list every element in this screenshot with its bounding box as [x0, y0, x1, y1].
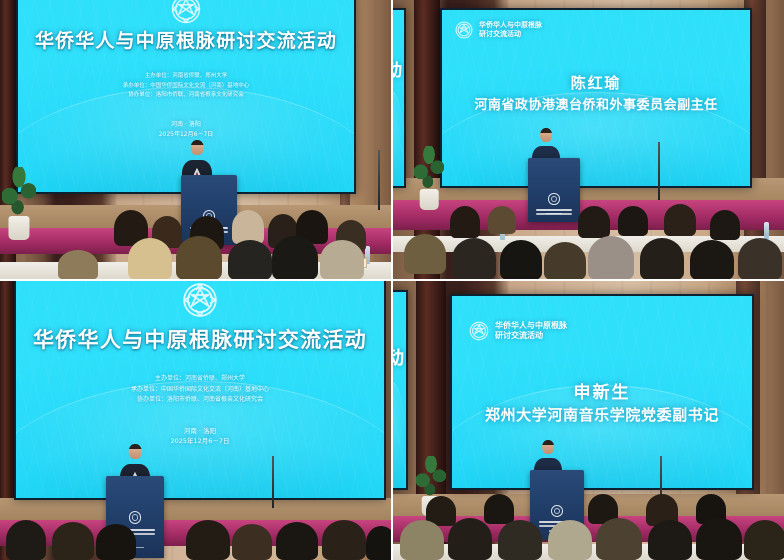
- audience-head: [58, 250, 98, 280]
- emblem-woven-knot-star-icon: [169, 0, 203, 26]
- organizer-line-3: 协办单位：洛阳市侨联、河南省根亲文化研究会: [18, 91, 354, 101]
- photo-collage: 华侨华人与中原根脉研讨交流活动 主办单位：河南省侨联、郑州大学 承办单位：中国华…: [0, 0, 784, 560]
- speaker-title: 河南省政协港澳台侨和外事委员会副主任: [442, 94, 750, 113]
- audience-head: [578, 206, 610, 238]
- slide-organizer-lines: 主办单位：河南省侨联、郑州大学 承办单位：中国华侨国际文化交流（河南）基地中心 …: [16, 374, 384, 406]
- led-screen: 华侨华人与中原根脉 研讨交流活动 申新生 郑州大学河南音乐学院党委副书记: [452, 296, 752, 488]
- corner-logo-text: 华侨华人与中原根脉 研讨交流活动: [495, 321, 567, 341]
- audience-head: [228, 240, 272, 280]
- audience-head: [488, 206, 516, 234]
- collage-seam-horizontal: [0, 279, 784, 281]
- audience-head: [548, 520, 592, 560]
- speaker-name: 申新生: [452, 378, 752, 403]
- organizer-line-1: 主办单位：河南省侨联、郑州大学: [18, 72, 354, 82]
- audience-head: [690, 240, 734, 280]
- audience-head: [366, 526, 392, 560]
- audience-head: [696, 518, 742, 560]
- slide-main-title: 华侨华人与中原根脉研讨交流活动: [18, 26, 354, 53]
- panel-top-left[interactable]: 华侨华人与中原根脉研讨交流活动 主办单位：河南省侨联、郑州大学 承办单位：中国华…: [0, 0, 392, 280]
- slide-main-title: 华侨华人与中原根脉研讨交流活动: [16, 324, 384, 354]
- led-screen: 华侨华人与中原根脉研讨交流活动 主办单位：河南省侨联、郑州大学 承办单位：中国华…: [16, 280, 384, 498]
- audience-head: [618, 206, 648, 236]
- organizer-line-3: 协办单位：洛阳市侨联、河南省根亲文化研究会: [16, 395, 384, 406]
- audience-head: [738, 238, 782, 280]
- audience-head: [276, 522, 318, 560]
- audience-head: [404, 234, 446, 274]
- audience-head: [272, 236, 318, 280]
- led-screen: 华侨华人与中原根脉 研讨交流活动 陈红瑜 河南省政协港澳台侨和外事委员会副主任: [442, 10, 750, 186]
- audience-head: [186, 520, 230, 560]
- audience-head: [232, 210, 264, 244]
- slide-organizer-lines: 主办单位：河南省侨联、郑州大学 承办单位：中国华侨国际文化交流（河南）基地中心 …: [18, 72, 354, 101]
- audience-head: [322, 520, 366, 560]
- corner-logo-line-1: 华侨华人与中原根脉: [495, 321, 567, 331]
- audience-head: [96, 524, 136, 560]
- audience-head: [450, 206, 480, 238]
- emblem-woven-knot-star-icon: [180, 280, 220, 320]
- slide-place-date: 河南 · 洛阳 2025年12月6－7日: [16, 426, 384, 447]
- corner-logo-line-1: 华侨华人与中原根脉: [479, 21, 542, 30]
- audience-head: [400, 520, 444, 560]
- audience-head: [448, 518, 492, 560]
- adjacent-screen-partial-glyph: 动: [392, 344, 404, 370]
- slide-date: 2025年12月6－7日: [16, 436, 384, 446]
- emblem-woven-knot-star-icon: [468, 320, 490, 342]
- slide-date: 2025年12月6－7日: [18, 130, 354, 140]
- slide-corner-logo: 华侨华人与中原根脉 研讨交流活动: [468, 320, 567, 342]
- audience-head: [6, 520, 46, 560]
- audience-head: [744, 520, 784, 560]
- audience-head: [710, 210, 740, 240]
- audience-rows: [0, 190, 392, 280]
- speaker-title: 郑州大学河南音乐学院党委副书记: [452, 404, 752, 425]
- audience-head: [232, 524, 272, 560]
- audience-head: [320, 240, 364, 280]
- slide-place: 河南 · 洛阳: [18, 120, 354, 130]
- corner-logo-line-2: 研讨交流活动: [479, 30, 542, 39]
- audience-head: [588, 236, 634, 280]
- corner-logo-line-2: 研讨交流活动: [495, 331, 567, 341]
- slide-place-date: 河南 · 洛阳 2025年12月6－7日: [18, 120, 354, 139]
- audience-head: [500, 240, 542, 280]
- led-screen-frame: 华侨华人与中原根脉 研讨交流活动 申新生 郑州大学河南音乐学院党委副书记: [450, 294, 754, 490]
- adjacent-screen-edge: 动: [392, 8, 406, 188]
- audience-head: [664, 204, 696, 236]
- organizer-line-2: 承办单位：中国华侨国际文化交流（河南）基地中心: [18, 82, 354, 92]
- audience-head: [484, 494, 514, 524]
- adjacent-screen-partial-glyph: 动: [392, 56, 402, 81]
- led-screen-frame: 华侨华人与中原根脉 研讨交流活动 陈红瑜 河南省政协港澳台侨和外事委员会副主任: [440, 8, 752, 188]
- audience-head: [596, 518, 642, 560]
- led-screen-frame: 华侨华人与中原根脉研讨交流活动 主办单位：河南省侨联、郑州大学 承办单位：中国华…: [14, 280, 386, 500]
- audience-head: [544, 242, 586, 280]
- audience-head: [52, 522, 94, 560]
- audience-head: [498, 520, 542, 560]
- organizer-line-1: 主办单位：河南省侨联、郑州大学: [16, 374, 384, 385]
- corner-logo-text: 华侨华人与中原根脉 研讨交流活动: [479, 21, 542, 39]
- slide-corner-logo: 华侨华人与中原根脉 研讨交流活动: [454, 20, 542, 40]
- organizer-line-2: 承办单位：中国华侨国际文化交流（河南）基地中心: [16, 385, 384, 396]
- audience-rows: [392, 476, 784, 560]
- panel-bottom-right[interactable]: 动 华侨华人与中原根脉: [392, 280, 784, 560]
- audience-head: [128, 238, 172, 280]
- slide-place: 河南 · 洛阳: [16, 426, 384, 436]
- audience-head: [640, 238, 684, 280]
- panel-bottom-left[interactable]: 华侨华人与中原根脉研讨交流活动 主办单位：河南省侨联、郑州大学 承办单位：中国华…: [0, 280, 392, 560]
- audience-head: [452, 238, 496, 280]
- audience-rows: [392, 185, 784, 280]
- audience-head: [176, 236, 222, 280]
- emblem-woven-knot-star-icon: [454, 20, 474, 40]
- audience-rows: [0, 490, 392, 560]
- adjacent-screen-edge: 动: [392, 290, 408, 490]
- speaker-name: 陈红瑜: [442, 72, 750, 93]
- audience-head: [648, 520, 692, 560]
- panel-top-right[interactable]: 动 华侨华人与中原根脉: [392, 0, 784, 280]
